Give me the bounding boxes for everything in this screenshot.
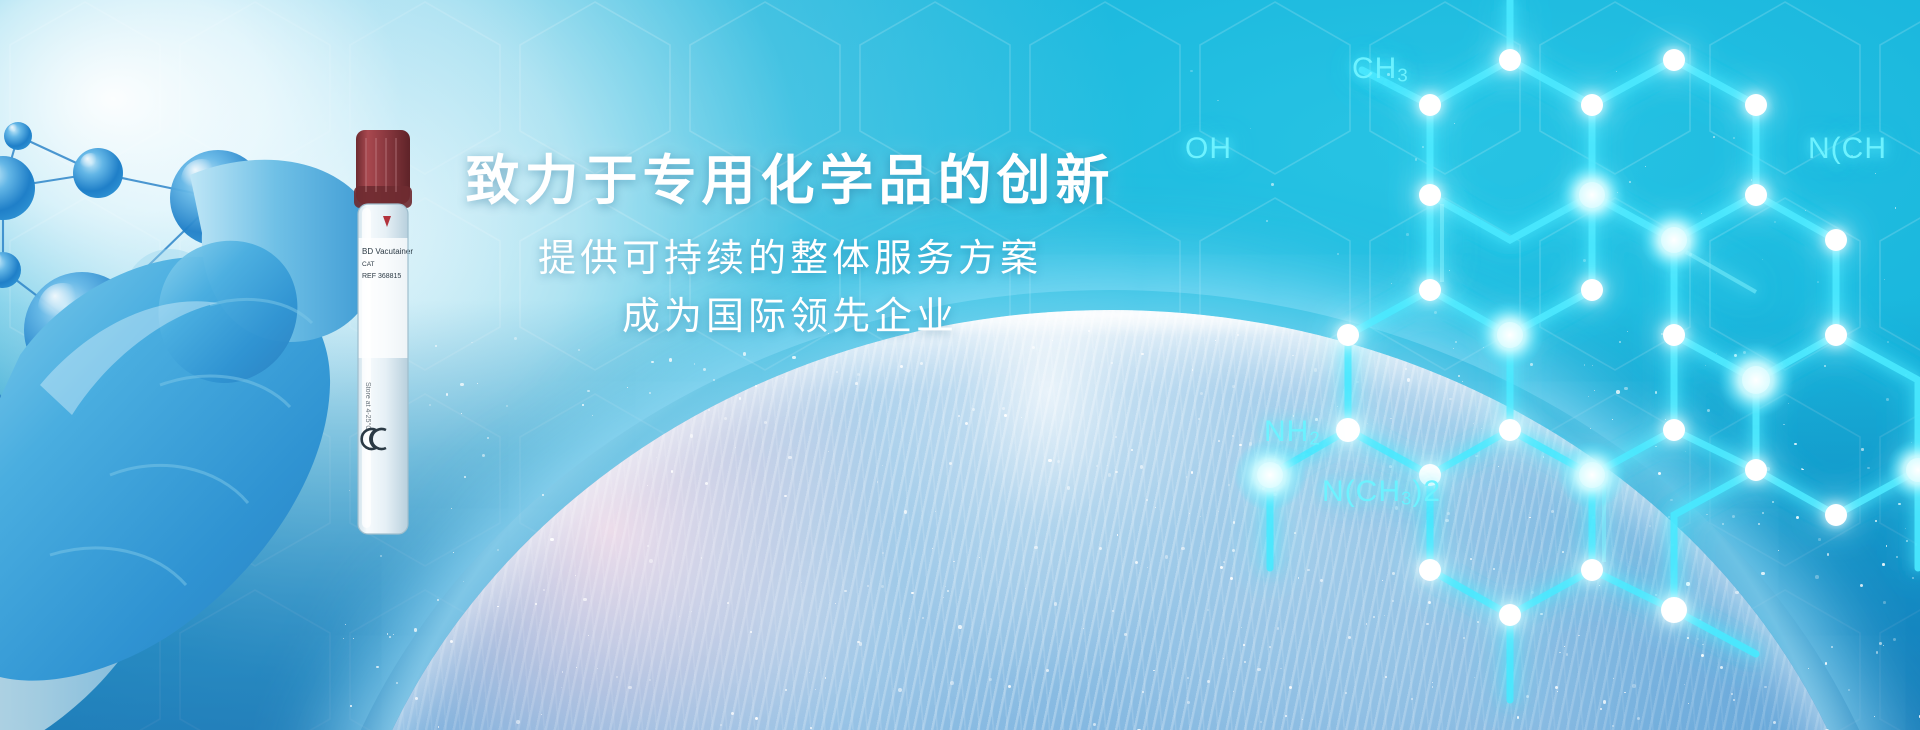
earth-cloud-texture [330,310,1890,730]
chem-label-ch3: CH3 [1352,52,1409,86]
hero-banner: BD Vacutainer CAT REF 368815 Store at 4-… [0,0,1920,730]
tube-brand-text: BD Vacutainer [362,247,413,256]
tube-cat-label: CAT [362,261,375,268]
chem-label-oh: OH [1185,132,1232,166]
tube-ref-text: REF 368815 [362,273,401,280]
tube-side-text: Store at 4-25°C [364,382,372,430]
earth-globe [330,310,1890,730]
chem-label-nch3-top: N(CH [1808,132,1887,166]
blood-collection-tube: BD Vacutainer CAT REF 368815 Store at 4-… [340,130,426,550]
